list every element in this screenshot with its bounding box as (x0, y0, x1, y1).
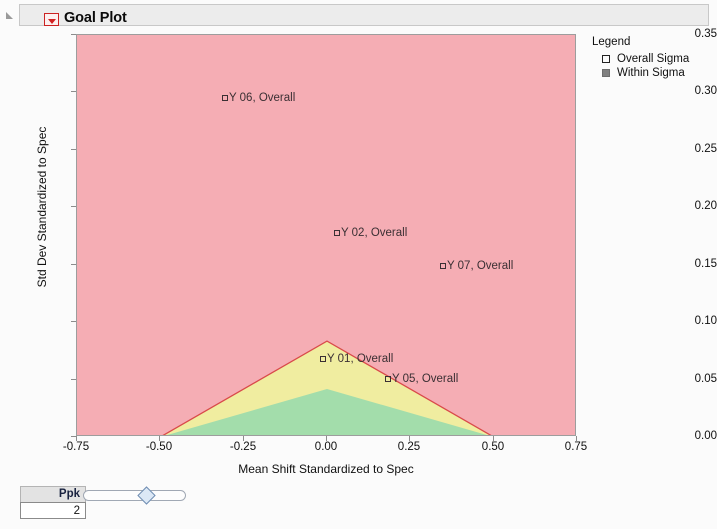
legend-item-label: Overall Sigma (617, 53, 689, 65)
x-tick-label: -0.75 (46, 441, 106, 453)
legend-item-overall-sigma[interactable]: Overall Sigma (602, 53, 712, 65)
y-tick-label: 0.05 (673, 373, 717, 385)
ppk-value-field[interactable]: 2 (20, 502, 86, 519)
x-tick-label: 0.75 (546, 441, 606, 453)
data-point-y05[interactable]: Y 05, Overall (385, 373, 458, 385)
legend-item-label: Within Sigma (617, 67, 685, 79)
data-point-label: Y 05, Overall (392, 373, 458, 385)
open-square-marker (222, 95, 228, 101)
open-square-marker (320, 356, 326, 362)
diamond-handle-icon (137, 486, 155, 504)
y-tick-label: 0.15 (673, 258, 717, 270)
filled-square-icon (602, 69, 610, 77)
x-tick-label: -0.50 (129, 441, 189, 453)
y-tick-label: 0.00 (673, 430, 717, 442)
data-point-y02[interactable]: Y 02, Overall (334, 227, 407, 239)
data-point-label: Y 06, Overall (229, 92, 295, 104)
data-point-y01[interactable]: Y 01, Overall (320, 353, 393, 365)
open-square-marker (334, 230, 340, 236)
ppk-label: Ppk (20, 486, 86, 502)
legend-item-within-sigma[interactable]: Within Sigma (602, 67, 712, 79)
open-square-icon (602, 55, 610, 63)
goal-regions (77, 35, 576, 436)
data-point-label: Y 01, Overall (327, 353, 393, 365)
data-point-y06[interactable]: Y 06, Overall (222, 92, 295, 104)
y-tick-label: 0.10 (673, 315, 717, 327)
data-point-y07[interactable]: Y 07, Overall (440, 260, 513, 272)
plot-area[interactable]: Y 06, Overall Y 02, Overall Y 07, Overal… (76, 34, 576, 436)
y-tick-label: 0.20 (673, 200, 717, 212)
x-tick-label: -0.25 (213, 441, 273, 453)
y-axis-label: Std Dev Standardized to Spec (35, 97, 49, 317)
ppk-slider-track[interactable] (83, 490, 186, 501)
x-axis-label: Mean Shift Standardized to Spec (76, 462, 576, 476)
open-square-marker (385, 376, 391, 382)
x-tick-label: 0.00 (296, 441, 356, 453)
ppk-control: Ppk 2 (20, 486, 220, 526)
goal-plot-panel: Goal Plot Std Dev Standardized to Spec 0… (0, 0, 717, 529)
data-point-label: Y 07, Overall (447, 260, 513, 272)
legend-title: Legend (592, 36, 712, 48)
x-tick-label: 0.50 (463, 441, 523, 453)
x-tick-label: 0.25 (379, 441, 439, 453)
ppk-slider-handle[interactable] (138, 487, 153, 504)
y-tick-label: 0.30 (673, 85, 717, 97)
legend: Legend Overall Sigma Within Sigma (592, 36, 712, 81)
y-tick-label: 0.25 (673, 143, 717, 155)
open-square-marker (440, 263, 446, 269)
data-point-label: Y 02, Overall (341, 227, 407, 239)
